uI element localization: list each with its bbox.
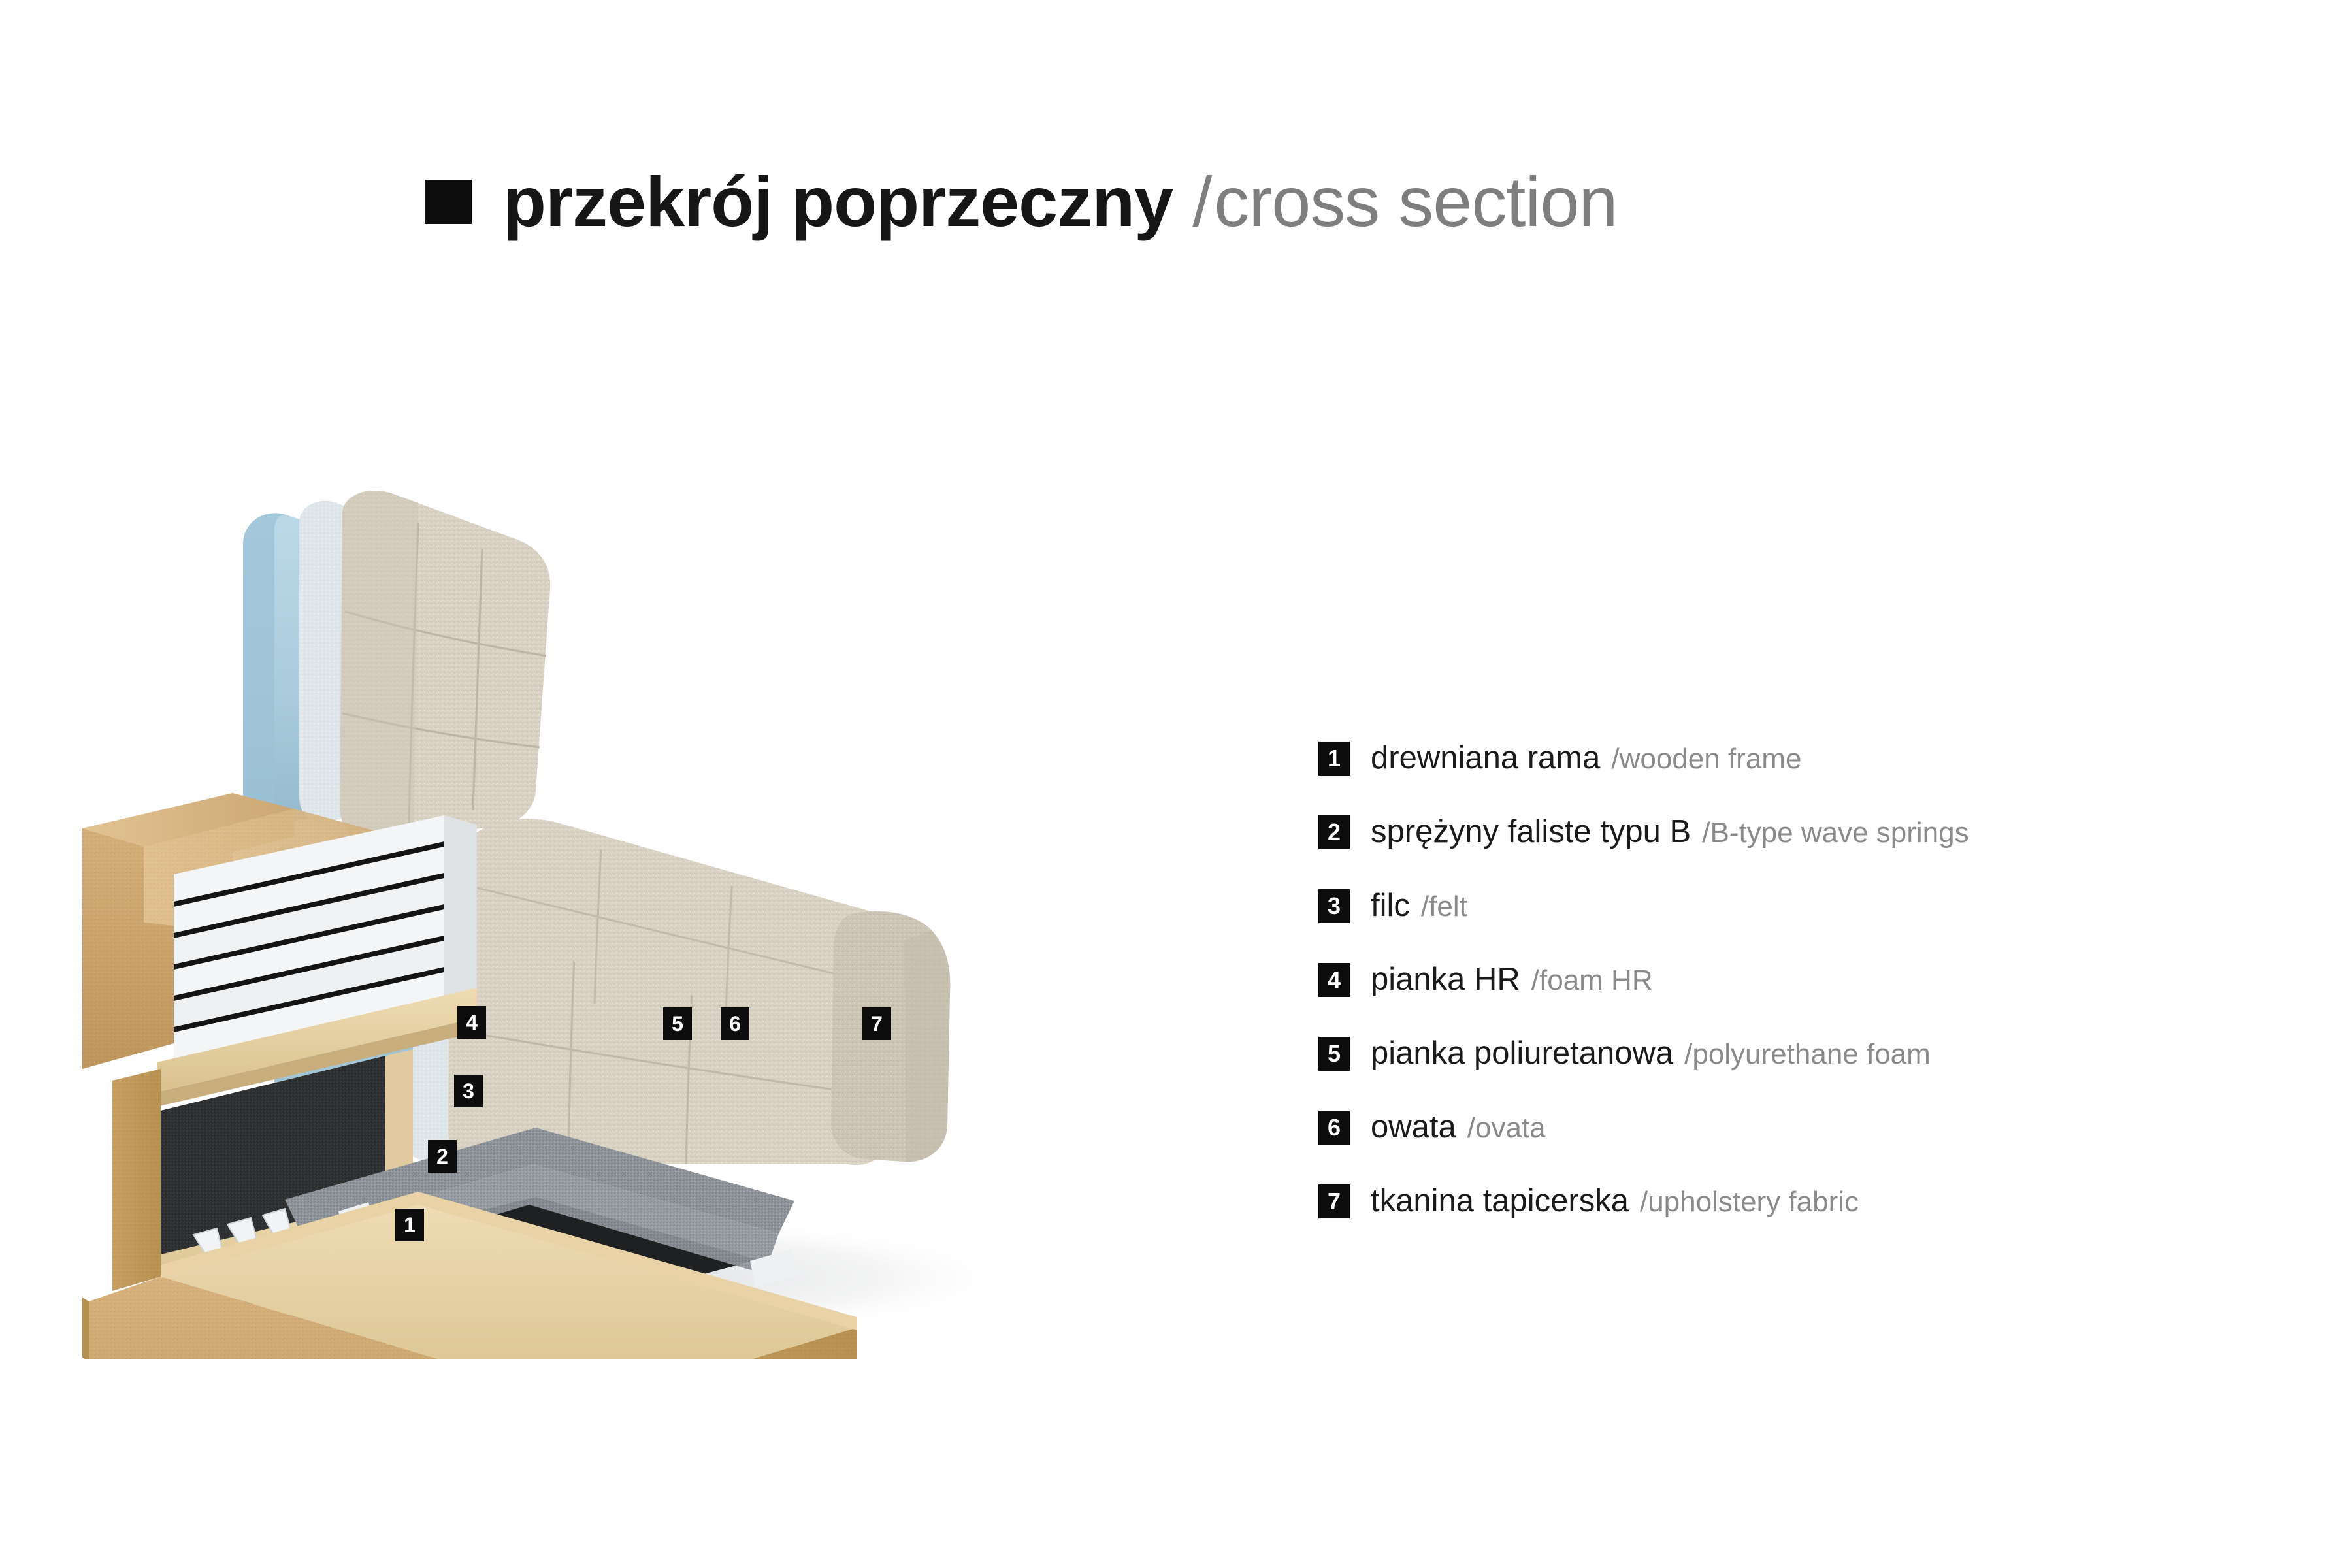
legend-label-2: sprężyny faliste typu B /B-type wave spr… <box>1371 816 1969 848</box>
legend-label-1-en: /wooden frame <box>1611 745 1801 774</box>
title-polish: przekrój poprzeczny <box>503 167 1173 237</box>
materials-legend: 1 drewniana rama /wooden frame 2 sprężyn… <box>1318 721 2272 1238</box>
cross-section-infographic: przekrój poprzeczny / cross section <box>0 0 2352 1568</box>
callout-7: 7 <box>862 1007 891 1040</box>
title-english: cross section <box>1214 167 1617 237</box>
callout-3: 3 <box>454 1075 483 1107</box>
legend-item-4: 4 pianka HR /foam HR <box>1318 943 2272 1017</box>
legend-label-6-pl: owata <box>1371 1111 1456 1143</box>
callout-2: 2 <box>428 1140 457 1173</box>
legend-label-2-pl: sprężyny faliste typu B <box>1371 816 1691 848</box>
title-text: przekrój poprzeczny / cross section <box>503 167 1618 237</box>
callout-5: 5 <box>663 1007 692 1040</box>
legend-label-7-pl: tkanina tapicerska <box>1371 1185 1629 1217</box>
callout-4: 4 <box>457 1006 486 1039</box>
backrest-fabric-layer <box>340 491 550 843</box>
callout-6: 6 <box>721 1007 749 1040</box>
legend-badge-1: 1 <box>1318 742 1350 776</box>
legend-label-4: pianka HR /foam HR <box>1371 964 1653 996</box>
legend-item-3: 3 filc /felt <box>1318 869 2272 943</box>
legend-label-4-pl: pianka HR <box>1371 964 1520 996</box>
legend-label-5: pianka poliuretanowa /polyurethane foam <box>1371 1037 1931 1070</box>
title-separator: / <box>1192 167 1211 237</box>
legend-item-6: 6 owata /ovata <box>1318 1090 2272 1164</box>
legend-item-5: 5 pianka poliuretanowa /polyurethane foa… <box>1318 1017 2272 1090</box>
legend-label-5-pl: pianka poliuretanowa <box>1371 1037 1673 1070</box>
legend-label-7: tkanina tapicerska /upholstery fabric <box>1371 1185 1859 1217</box>
seat-fabric-layer <box>448 819 950 1165</box>
legend-label-5-en: /polyurethane foam <box>1684 1040 1931 1069</box>
legend-badge-4: 4 <box>1318 963 1350 997</box>
legend-label-6: owata /ovata <box>1371 1111 1546 1143</box>
legend-label-6-en: /ovata <box>1467 1114 1546 1143</box>
legend-label-3-pl: filc <box>1371 890 1410 922</box>
page-title: przekrój poprzeczny / cross section <box>425 167 1618 237</box>
legend-badge-3: 3 <box>1318 889 1350 923</box>
legend-badge-2: 2 <box>1318 815 1350 849</box>
legend-label-3-en: /felt <box>1421 892 1467 921</box>
legend-badge-5: 5 <box>1318 1037 1350 1071</box>
legend-label-1: drewniana rama /wooden frame <box>1371 742 1801 774</box>
sofa-cross-section-illustration: 1 2 3 4 5 6 7 <box>78 483 1241 1359</box>
callout-1: 1 <box>395 1209 424 1241</box>
legend-badge-6: 6 <box>1318 1111 1350 1145</box>
legend-label-7-en: /upholstery fabric <box>1640 1188 1859 1217</box>
legend-badge-7: 7 <box>1318 1184 1350 1218</box>
legend-label-2-en: /B-type wave springs <box>1702 819 1968 847</box>
legend-label-1-pl: drewniana rama <box>1371 742 1600 774</box>
legend-item-7: 7 tkanina tapicerska /upholstery fabric <box>1318 1164 2272 1238</box>
legend-label-3: filc /felt <box>1371 890 1467 922</box>
square-bullet-icon <box>425 180 472 224</box>
legend-item-2: 2 sprężyny faliste typu B /B-type wave s… <box>1318 795 2272 869</box>
legend-item-1: 1 drewniana rama /wooden frame <box>1318 721 2272 795</box>
legend-label-4-en: /foam HR <box>1531 966 1653 995</box>
